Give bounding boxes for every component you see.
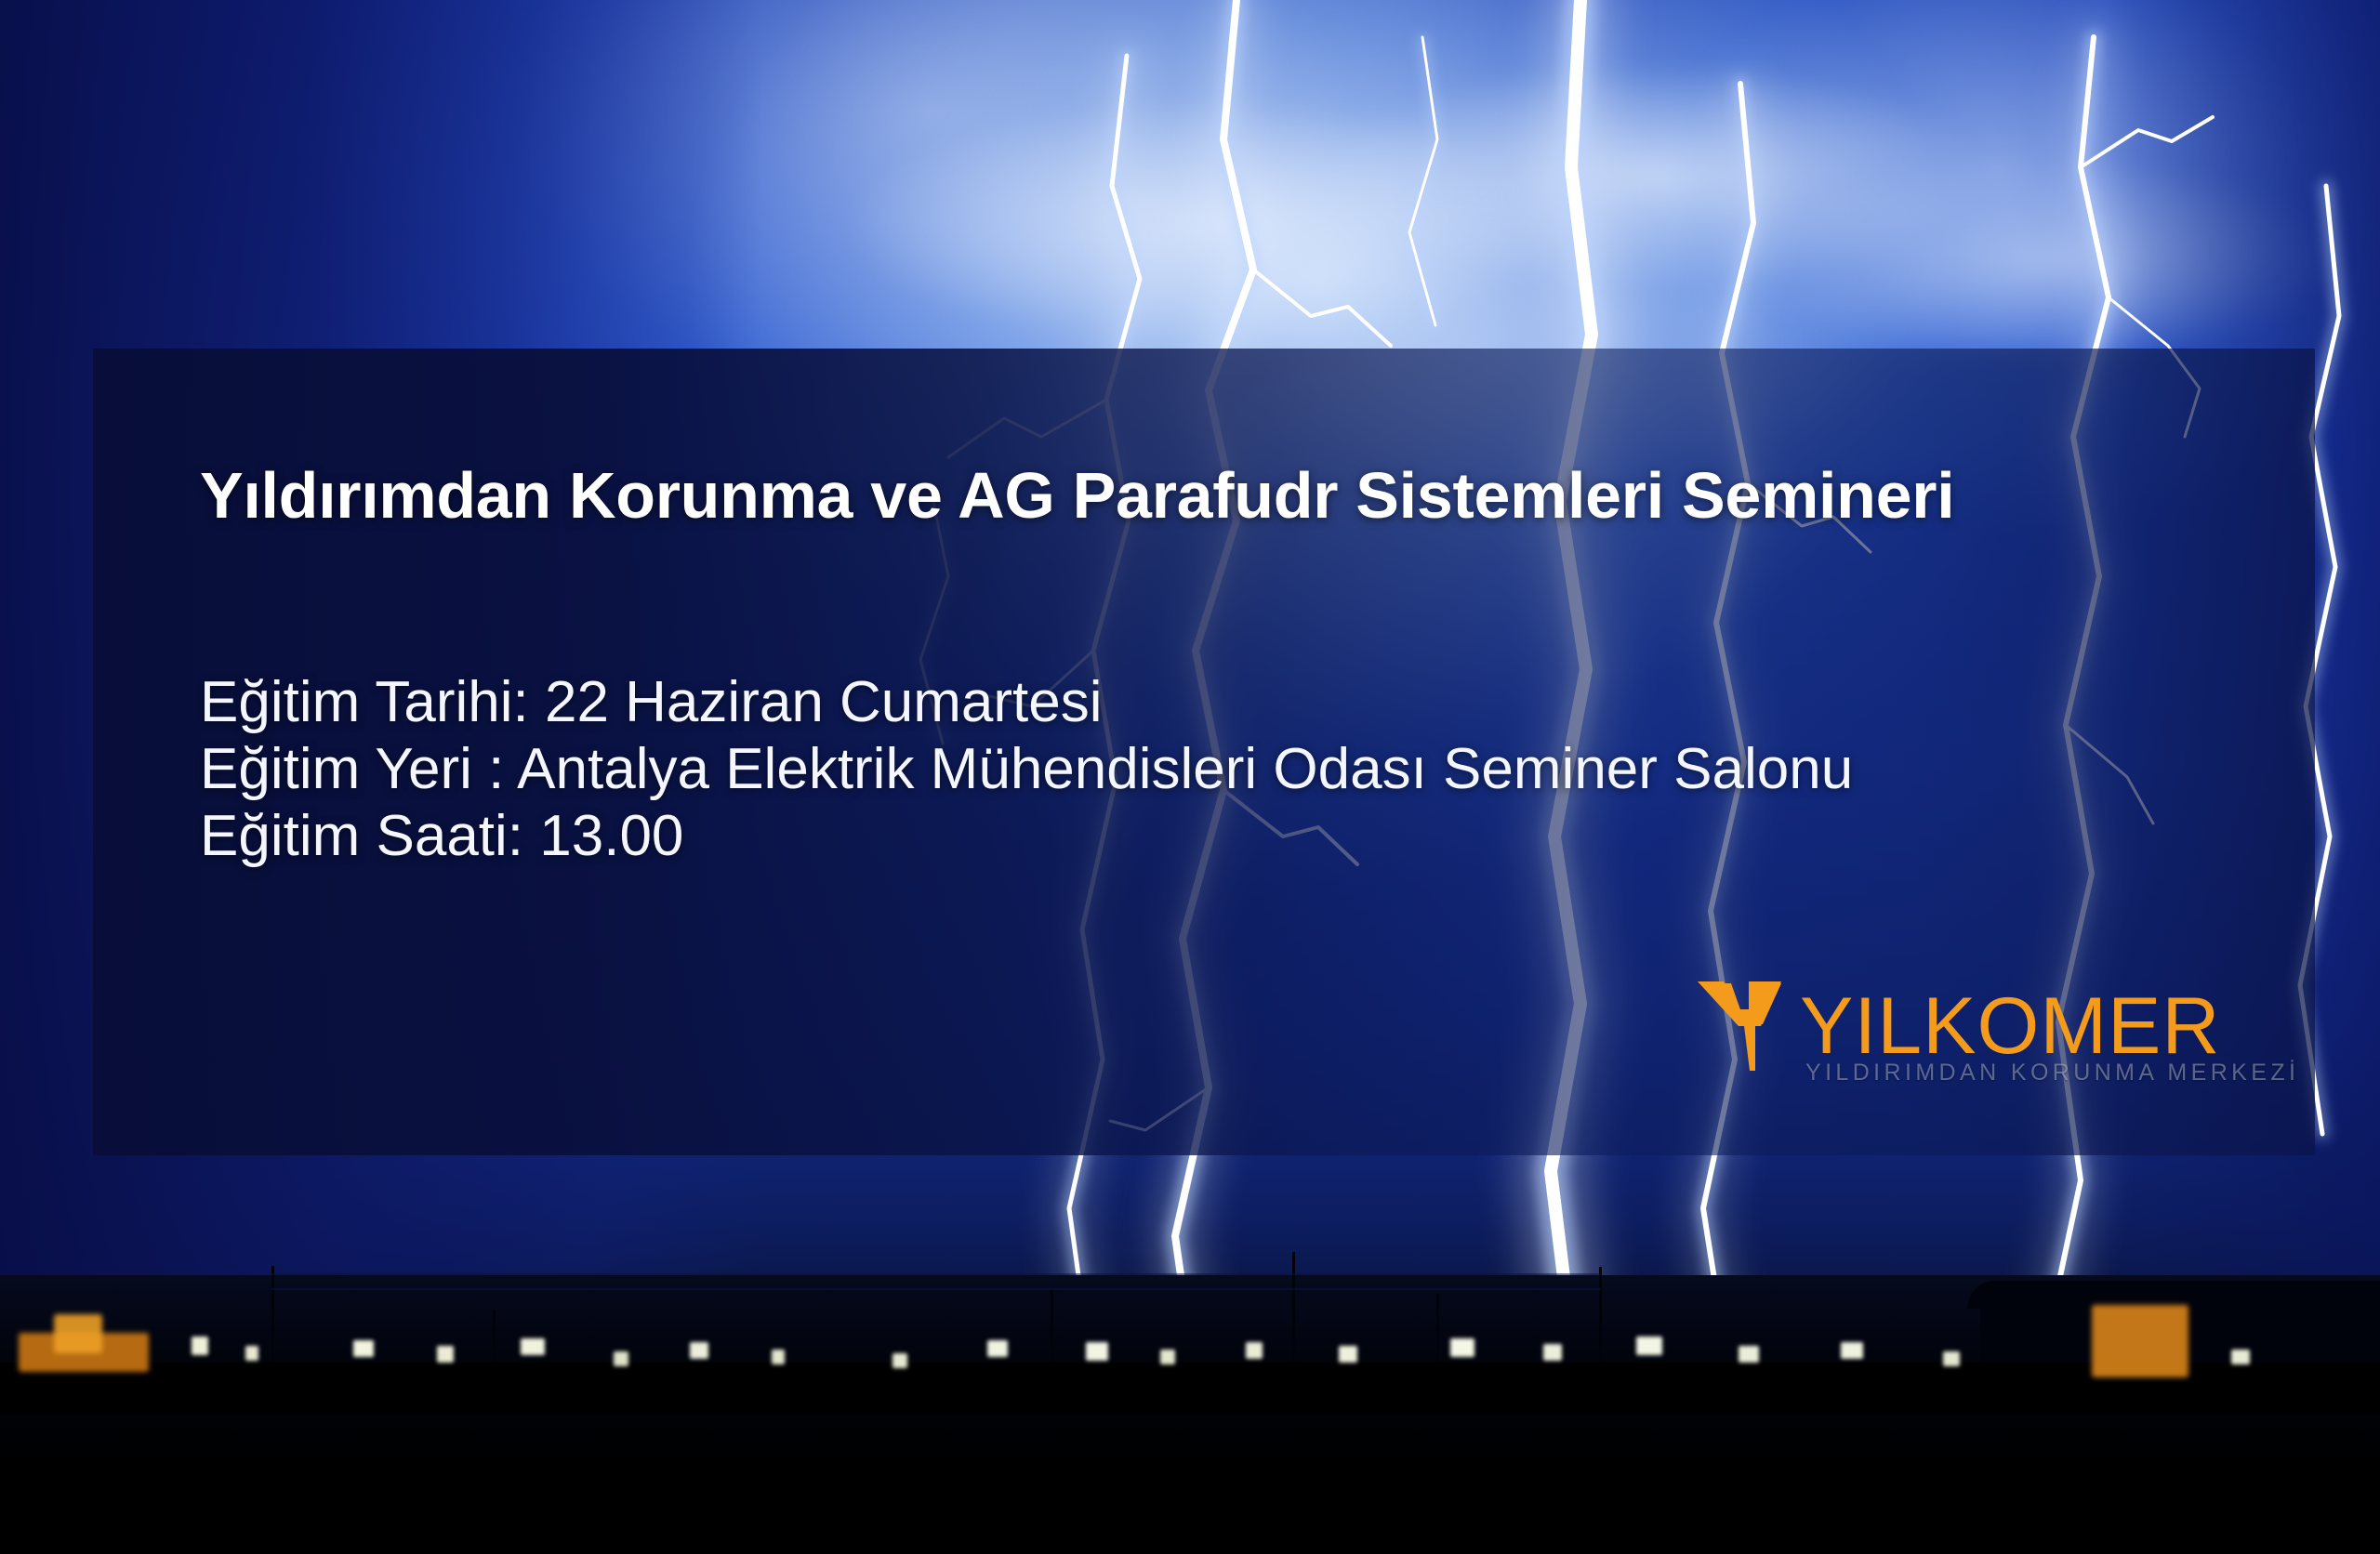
city-light [987, 1340, 1008, 1357]
logo-tagline: YILDIRIMDAN KORUNMA MERKEZİ [1805, 1060, 2299, 1086]
city-light [1943, 1351, 1960, 1366]
detail-line-date: Eğitim Tarihi: 22 Haziran Cumartesi [200, 669, 1853, 736]
city-light [690, 1342, 708, 1359]
city-light [892, 1353, 907, 1368]
power-line [271, 1273, 1601, 1275]
city-light [1339, 1346, 1357, 1363]
logo-wordmark-part1: YIL [1800, 981, 1923, 1071]
event-details-block: Eğitim Tarihi: 22 Haziran Cumartesi Eğit… [200, 669, 1853, 870]
logo-wordmark: YILKOMER [1800, 986, 2220, 1066]
city-light [437, 1346, 454, 1363]
city-light [1841, 1342, 1863, 1359]
power-line [271, 1288, 1601, 1290]
yilkomer-logo[interactable]: YILKOMER YILDIRIMDAN KORUNMA MERKEZİ [1696, 978, 2272, 1097]
city-light [521, 1338, 545, 1355]
city-light [1450, 1338, 1474, 1357]
page-title: Yıldırımdan Korunma ve AG Parafudr Siste… [200, 458, 1954, 533]
city-light [1636, 1337, 1662, 1355]
amber-building-glow [54, 1314, 102, 1353]
detail-line-time: Eğitim Saati: 13.00 [200, 803, 1853, 870]
city-light [1543, 1344, 1562, 1361]
logo-wordmark-part2: KOMER [1923, 981, 2220, 1071]
city-light [1246, 1342, 1263, 1359]
city-light [353, 1340, 374, 1357]
building-mass [0, 1363, 2380, 1415]
amber-building-glow [2092, 1305, 2188, 1377]
city-light [1160, 1350, 1175, 1364]
city-light [1086, 1342, 1108, 1361]
city-light [245, 1346, 258, 1361]
detail-line-venue: Eğitim Yeri : Antalya Elektrik Mühendisl… [200, 736, 1853, 803]
city-light [2231, 1350, 2250, 1364]
poster-canvas: Yıldırımdan Korunma ve AG Parafudr Siste… [0, 0, 2380, 1554]
lightning-v-mark-icon [1696, 978, 1805, 1074]
city-light [614, 1351, 628, 1366]
city-light [1739, 1346, 1759, 1363]
city-light [192, 1337, 208, 1355]
city-skyline [0, 1266, 2380, 1415]
city-light [772, 1350, 785, 1364]
